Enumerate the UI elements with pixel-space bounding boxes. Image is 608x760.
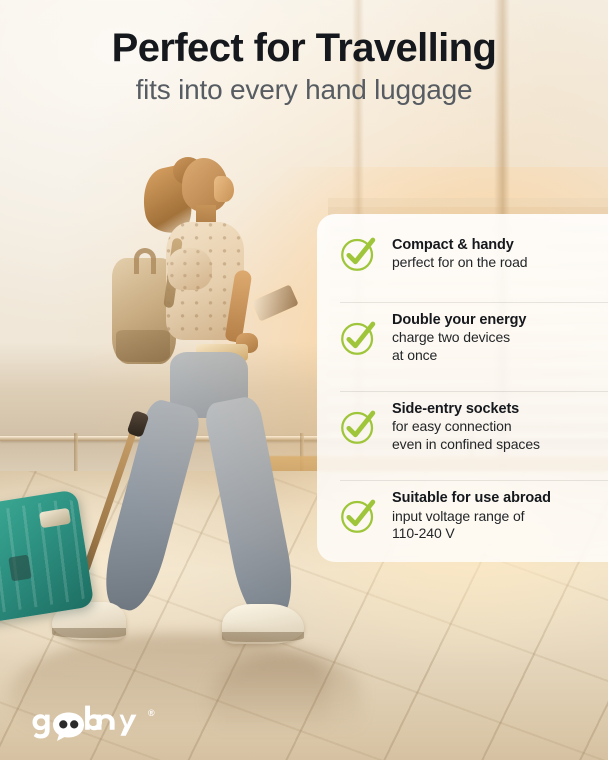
- feature-desc: input voltage range of110-240 V: [392, 508, 551, 543]
- feature-title: Side-entry sockets: [392, 400, 540, 418]
- poster: Perfect for Travelling fits into every h…: [0, 0, 608, 760]
- feature-title: Suitable for use abroad: [392, 489, 551, 507]
- back-leg: [96, 397, 203, 616]
- backpack-pocket: [116, 330, 170, 362]
- feature-desc: charge two devicesat once: [392, 329, 526, 364]
- goobay-wordmark: [30, 702, 146, 742]
- suitcase-tag: [8, 555, 32, 582]
- check-circle-icon: [337, 317, 379, 359]
- feature-desc: for easy connectioneven in confined spac…: [392, 418, 540, 453]
- feature-title: Compact & handy: [392, 236, 527, 254]
- floor-reflection-secondary: [210, 654, 360, 750]
- shirt-sleeve: [168, 248, 212, 290]
- page-title: Perfect for Travelling: [0, 26, 608, 71]
- feature-text: Side-entry sockets for easy connectionev…: [392, 400, 540, 454]
- headline-block: Perfect for Travelling fits into every h…: [0, 26, 608, 106]
- front-leg: [203, 395, 300, 624]
- brand-logo: ®: [30, 702, 155, 742]
- feature-item: Double your energy charge two devicesat …: [337, 302, 596, 374]
- feature-card: Compact & handy perfect for on the road …: [317, 214, 608, 562]
- feature-text: Double your energy charge two devicesat …: [392, 311, 526, 365]
- feature-text: Compact & handy perfect for on the road: [392, 236, 527, 272]
- feature-item: Compact & handy perfect for on the road: [337, 224, 596, 284]
- feature-item: Side-entry sockets for easy connectionev…: [337, 391, 596, 463]
- trademark-symbol: ®: [148, 708, 155, 718]
- check-circle-icon: [337, 495, 379, 537]
- backpack-handle: [134, 248, 156, 274]
- feature-item: Suitable for use abroad input voltage ra…: [337, 480, 596, 552]
- feature-title: Double your energy: [392, 311, 526, 329]
- feature-desc: perfect for on the road: [392, 254, 527, 272]
- check-circle-icon: [337, 406, 379, 448]
- check-circle-icon: [337, 233, 379, 275]
- sneaker-sole: [52, 628, 126, 638]
- phone-in-hand: [251, 284, 298, 321]
- page-subtitle: fits into every hand luggage: [0, 73, 608, 107]
- feature-text: Suitable for use abroad input voltage ra…: [392, 489, 551, 543]
- face-profile: [214, 176, 234, 202]
